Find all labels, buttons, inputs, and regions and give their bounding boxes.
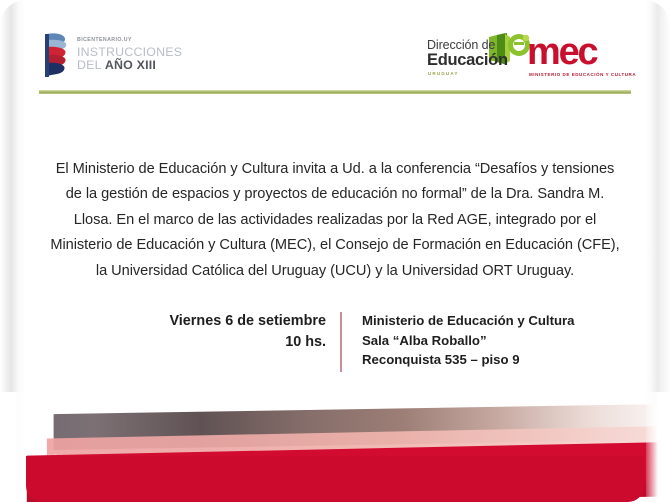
bicentenario-line1: BICENTENARIO.UY (77, 38, 182, 43)
footer-mask-right (646, 392, 670, 502)
mec-subtitle: MINISTERIO DE EDUCACIÓN Y CULTURA (529, 72, 636, 77)
direccion-line1: Dirección de (427, 38, 495, 52)
direccion-line3: URUGUAY (428, 71, 459, 76)
bicentenario-line3-prefix: DEL (77, 58, 105, 72)
mec-logo: mec MINISTERIO DE EDUCACIÓN Y CULTURA (527, 32, 632, 80)
event-date: Viernes 6 de setiembre (168, 311, 326, 332)
header: BICENTENARIO.UY INSTRUCCIONES DEL AÑO XI… (0, 0, 670, 92)
bicentenario-line3-strong: AÑO XIII (105, 58, 156, 72)
mec-wordmark: mec (527, 32, 596, 72)
bicentenario-logo: BICENTENARIO.UY INSTRUCCIONES DEL AÑO XI… (42, 31, 182, 79)
direccion-line2: Educación (427, 51, 508, 70)
ribbon-spiral-icon (42, 31, 70, 79)
invitation-paragraph: El Ministerio de Educación y Cultura inv… (48, 157, 622, 285)
footer-decorative-bands (0, 392, 670, 502)
venue-institution: Ministerio de Educación y Cultura (362, 311, 575, 331)
event-when: Viernes 6 de setiembre 10 hs. (168, 311, 340, 352)
event-details: Viernes 6 de setiembre 10 hs. Ministerio… (168, 311, 588, 372)
footer-mask-left (0, 392, 26, 502)
event-time: 10 hs. (168, 332, 326, 353)
invitation-card: BICENTENARIO.UY INSTRUCCIONES DEL AÑO XI… (0, 0, 670, 502)
direccion-educacion-logo: Dirección de Educación URUGUAY (427, 33, 527, 81)
venue-room: Sala “Alba Roballo” (362, 331, 575, 351)
footer-crimson-base (26, 456, 644, 502)
bicentenario-line2: INSTRUCCIONES (77, 46, 182, 58)
header-divider-rule (39, 90, 631, 94)
venue-address: Reconquista 535 – piso 9 (362, 350, 575, 370)
bicentenario-line3: DEL AÑO XIII (77, 59, 182, 71)
event-where: Ministerio de Educación y Cultura Sala “… (342, 311, 575, 370)
bicentenario-wordmark: BICENTENARIO.UY INSTRUCCIONES DEL AÑO XI… (77, 38, 182, 71)
